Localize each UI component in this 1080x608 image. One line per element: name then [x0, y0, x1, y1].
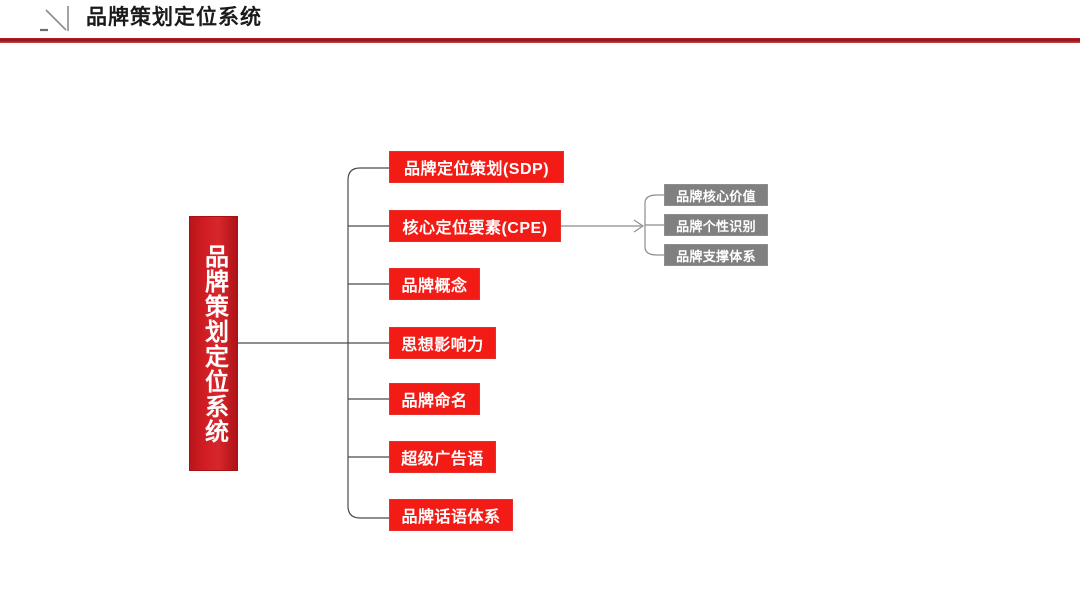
- node-brand-naming[interactable]: 品牌命名: [389, 383, 480, 415]
- node-brand-discourse-system[interactable]: 品牌话语体系: [389, 499, 513, 531]
- node-label: 品牌核心价值: [676, 186, 756, 205]
- node-core-positioning-elements-cpe[interactable]: 核心定位要素(CPE): [389, 210, 561, 242]
- node-brand-concept[interactable]: 品牌概念: [389, 268, 480, 300]
- root-node-brand-planning-positioning-system[interactable]: 品牌策划定位系统: [189, 216, 238, 471]
- node-brand-core-value[interactable]: 品牌核心价值: [664, 184, 768, 206]
- node-label: 超级广告语: [401, 445, 484, 469]
- node-label: 品牌话语体系: [401, 503, 500, 527]
- node-label: 品牌个性识别: [676, 216, 756, 235]
- node-label: 品牌支撑体系: [676, 246, 756, 265]
- connector-lines: [0, 0, 1080, 608]
- node-label: 品牌定位策划(SDP): [404, 155, 549, 179]
- node-brand-positioning-planning-sdp[interactable]: 品牌定位策划(SDP): [389, 151, 564, 183]
- brand-planning-positioning-diagram: 品牌策划定位系统 品牌定位策划(SDP) 核心定位要素(CPE) 品牌概念 思想…: [0, 0, 1080, 608]
- node-super-slogan[interactable]: 超级广告语: [389, 441, 496, 473]
- node-brand-personality-identity[interactable]: 品牌个性识别: [664, 214, 768, 236]
- node-brand-support-system[interactable]: 品牌支撑体系: [664, 244, 768, 266]
- root-node-label: 品牌策划定位系统: [201, 244, 227, 444]
- node-label: 品牌命名: [401, 387, 467, 411]
- node-label: 品牌概念: [401, 272, 467, 296]
- node-label: 核心定位要素(CPE): [402, 214, 547, 238]
- node-label: 思想影响力: [401, 331, 484, 355]
- node-thought-influence[interactable]: 思想影响力: [389, 327, 496, 359]
